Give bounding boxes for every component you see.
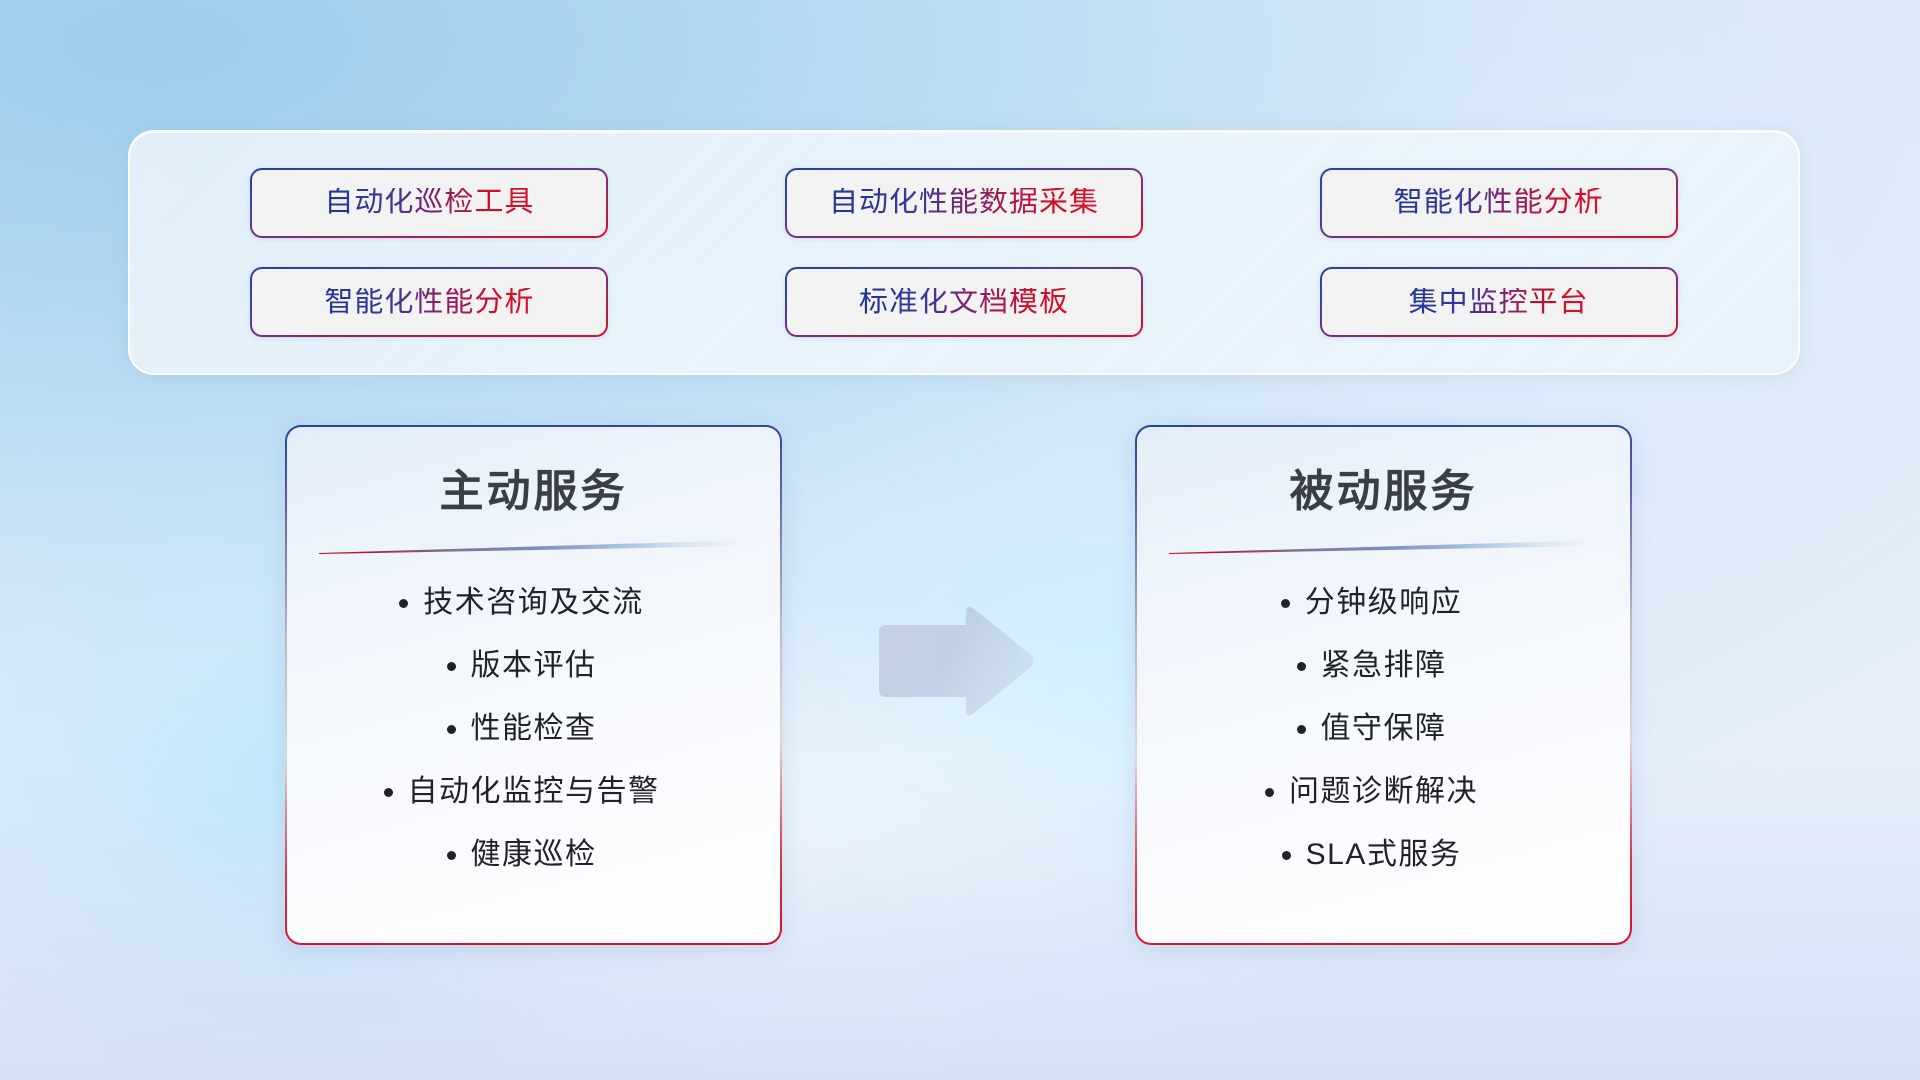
capability-pill[interactable]: 智能化性能分析 — [1320, 168, 1678, 238]
card-title: 被动服务 — [1137, 455, 1630, 519]
capability-pill-label: 集中监控平台 — [1409, 288, 1589, 317]
card-divider — [319, 540, 749, 554]
capability-pill[interactable]: 自动化巡检工具 — [250, 168, 608, 238]
capability-pill-label: 自动化巡检工具 — [324, 188, 534, 217]
card-title: 主动服务 — [287, 455, 780, 519]
capability-pill-label: 标准化文档模板 — [859, 288, 1069, 317]
service-list-item: 性能检查 — [471, 711, 597, 747]
service-item-list: 技术咨询及交流 版本评估 性能检查 自动化监控与告警 健康巡检 — [287, 575, 780, 873]
capability-pill[interactable]: 智能化性能分析 — [250, 267, 608, 337]
capability-pill[interactable]: 自动化性能数据采集 — [785, 168, 1143, 238]
service-list-item: 分钟级响应 — [1305, 585, 1463, 621]
service-list-item: 紧急排障 — [1321, 648, 1447, 684]
card-divider — [1169, 540, 1599, 554]
service-card-active: 主动服务 技术咨询及交流 版本评估 性能检查 自动化监控与告警 健康巡检 — [285, 425, 782, 945]
service-card-passive: 被动服务 分钟级响应 紧急排障 值守保障 问题诊断解决 SLA式服务 — [1135, 425, 1632, 945]
capability-pill[interactable]: 集中监控平台 — [1320, 267, 1678, 337]
service-list-item: 问题诊断解决 — [1289, 774, 1478, 810]
capability-pill-label: 智能化性能分析 — [1394, 188, 1604, 217]
capability-pill[interactable]: 标准化文档模板 — [785, 267, 1143, 337]
capability-panel: 自动化巡检工具 自动化性能数据采集 智能化性能分析 智能化性能分析 标准化文档模… — [128, 130, 1800, 375]
service-list-item: 自动化监控与告警 — [408, 774, 660, 810]
service-list-item: SLA式服务 — [1306, 837, 1462, 873]
capability-pill-label: 自动化性能数据采集 — [829, 188, 1099, 217]
service-item-list: 分钟级响应 紧急排障 值守保障 问题诊断解决 SLA式服务 — [1137, 575, 1630, 873]
right-arrow-icon — [873, 602, 1038, 720]
capability-pill-label: 智能化性能分析 — [324, 288, 534, 317]
service-list-item: 技术咨询及交流 — [423, 585, 644, 621]
service-list-item: 健康巡检 — [471, 837, 597, 873]
service-list-item: 值守保障 — [1321, 711, 1447, 747]
service-list-item: 版本评估 — [471, 648, 597, 684]
capability-pill-grid: 自动化巡检工具 自动化性能数据采集 智能化性能分析 智能化性能分析 标准化文档模… — [130, 132, 1798, 373]
